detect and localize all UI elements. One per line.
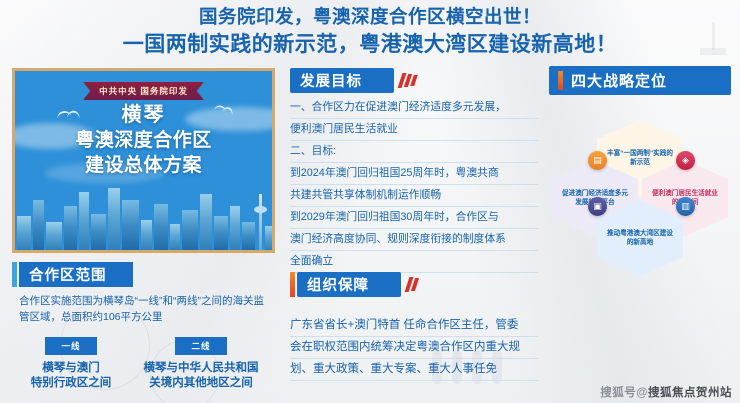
goals-slash-icon bbox=[400, 73, 416, 88]
organization-body: 广东省省长+澳门特首 任命合作区主任，管委 会在职权范围内统筹决定粤澳合作区内重… bbox=[290, 315, 538, 381]
scope-line-text-a: 横琴与中华人民共和国 bbox=[127, 361, 275, 376]
goals-line: 到2024年澳门回归祖国25周年时，粤澳共商 bbox=[290, 163, 538, 185]
scope-lines-row: 一线 横琴与澳门 特别行政区之间 二线 横琴与中华人民共和国 关境内其他地区之间 bbox=[19, 336, 275, 391]
poster-skyline bbox=[15, 172, 272, 250]
strategy-section: 四大战略定位 bbox=[549, 66, 731, 95]
goals-heading-label: 发展目标 bbox=[290, 70, 362, 91]
goals-body: 一、合作区力在促进澳门经济适度多元发展， 便利澳门居民生活就业 二、目标: 到2… bbox=[290, 97, 538, 273]
poster-ribbon: 中共中央 国务院印发 bbox=[83, 82, 204, 100]
goals-line: 二、目标: bbox=[290, 141, 538, 163]
organization-heading-label: 组织保障 bbox=[297, 274, 369, 295]
tv-tower bbox=[259, 194, 262, 250]
scope-section: 合作区范围 合作区实施范围为横琴岛“一线”和“两线”之间的海关监管区域，总面积约… bbox=[19, 262, 269, 391]
strategy-heading-label: 四大战略定位 bbox=[549, 70, 667, 91]
scope-heading: 合作区范围 bbox=[19, 262, 133, 287]
goals-line: 到2029年澳门回归祖国30周年时，合作区与 bbox=[290, 207, 538, 229]
scope-accent-bar bbox=[12, 262, 17, 287]
watermark-prefix: 搜狐号 bbox=[600, 387, 636, 399]
organization-line: 会在职权范围内统筹决定粤澳合作区内重大规 bbox=[290, 337, 538, 359]
organization-slash-icon bbox=[407, 277, 417, 292]
watermark-at: @ bbox=[636, 387, 648, 399]
scope-line-text-b: 特别行政区之间 bbox=[19, 376, 123, 391]
scope-line-text-a: 横琴与澳门 bbox=[19, 361, 123, 376]
page-header: 国务院印发，粤澳深度合作区横空出世！ 一国两制实践的新示范，粤港澳大湾区建设新高… bbox=[0, 4, 740, 59]
scope-line-text-b: 关境内其他地区之间 bbox=[127, 376, 275, 391]
stack-icon: ▤ bbox=[588, 151, 607, 170]
goals-line: 一、合作区力在促进澳门经济适度多元发展， bbox=[290, 97, 538, 119]
organization-line: 广东省省长+澳门特首 任命合作区主任，管委 bbox=[290, 315, 538, 337]
organization-heading: 组织保障 bbox=[297, 272, 401, 297]
goals-line: 澳门经济高度协同、规则深度衔接的制度体系 bbox=[290, 229, 538, 251]
poster-title: 横琴 粤澳深度合作区 建设总体方案 bbox=[15, 103, 272, 178]
header-title-line2: 一国两制实践的新示范，粤港澳大湾区建设新高地！ bbox=[0, 30, 740, 59]
strategy-heading: 四大战略定位 bbox=[549, 66, 731, 95]
infographic-page: 国务院印发，粤澳深度合作区横空出世！ 一国两制实践的新示范，粤港澳大湾区建设新高… bbox=[0, 0, 740, 403]
scope-line-badge: 一线 bbox=[45, 337, 96, 355]
goals-line: 共建共管共享体制机制运作顺畅 bbox=[290, 185, 538, 207]
goals-line: 全面确立 bbox=[290, 251, 538, 273]
scope-line-item: 一线 横琴与澳门 特别行政区之间 bbox=[19, 336, 123, 391]
poster-title-line1: 横琴 bbox=[15, 103, 272, 128]
watermark: 搜狐号@搜狐焦点贺州站 bbox=[600, 384, 732, 400]
goals-line: 便利澳门居民生活就业 bbox=[290, 119, 538, 141]
strategy-accent-bar bbox=[558, 71, 563, 90]
goals-section: 发展目标 一、合作区力在促进澳门经济适度多元发展， 便利澳门居民生活就业 二、目… bbox=[290, 68, 538, 273]
poster-title-line2: 粤澳深度合作区 bbox=[15, 128, 272, 153]
bar-chart-icon: ▥ bbox=[676, 197, 695, 216]
scope-line-text: 横琴与澳门 特别行政区之间 bbox=[19, 361, 123, 391]
organization-section: 组织保障 广东省省长+澳门特首 任命合作区主任，管委 会在职权范围内统筹决定粤澳… bbox=[290, 272, 538, 381]
watermark-site: 搜狐焦点贺州站 bbox=[648, 387, 732, 399]
scope-line-badge: 二线 bbox=[175, 337, 226, 355]
goals-heading: 发展目标 bbox=[290, 68, 394, 93]
scope-description: 合作区实施范围为横琴岛“一线”和“两线”之间的海关监管区域，总面积约106平方公… bbox=[19, 293, 271, 325]
header-title-line1: 国务院印发，粤澳深度合作区横空出世！ bbox=[0, 4, 740, 30]
scope-line-text: 横琴与中华人民共和国 关境内其他地区之间 bbox=[127, 361, 275, 391]
scope-heading-label: 合作区范围 bbox=[19, 264, 107, 285]
scope-line-item: 二线 横琴与中华人民共和国 关境内其他地区之间 bbox=[127, 336, 275, 391]
plan-poster-card: 中共中央 国务院印发 横琴 粤澳深度合作区 建设总体方案 bbox=[12, 68, 275, 253]
shield-icon: ◈ bbox=[676, 151, 695, 170]
organization-accent-bar bbox=[290, 272, 295, 297]
monitor-icon: ▣ bbox=[588, 197, 607, 216]
strategy-hexagon-diagram: 丰富“一国两制”实践的新示范 促进澳门经济适度多元发展的新平台 便利澳门居民生活… bbox=[540, 118, 740, 268]
organization-line: 划、重大政策、重大专案、重大人事任免 bbox=[290, 359, 538, 381]
